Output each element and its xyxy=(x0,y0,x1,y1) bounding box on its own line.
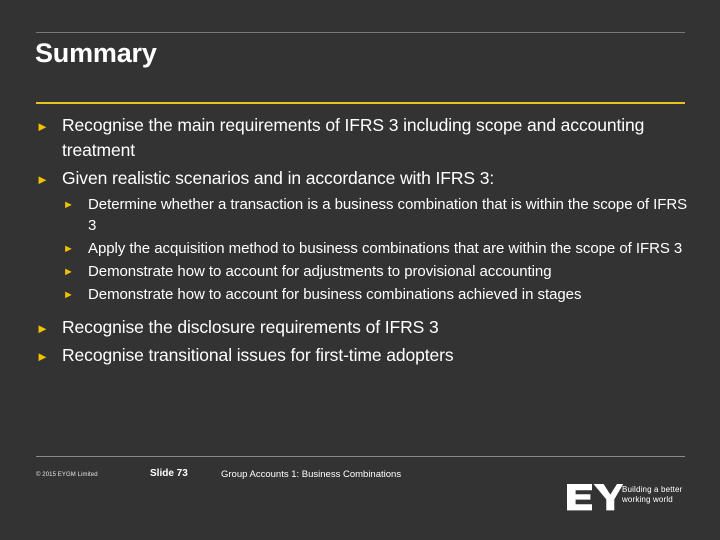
bullet-list: ► Recognise the main requirements of IFR… xyxy=(36,113,688,371)
sub-bullet-item: ► Determine whether a transaction is a b… xyxy=(63,194,688,236)
triangle-bullet-icon: ► xyxy=(63,238,88,255)
deck-title: Group Accounts 1: Business Combinations xyxy=(221,469,401,480)
bullet-item: ► Recognise the main requirements of IFR… xyxy=(36,113,688,163)
sub-bullet-item: ► Demonstrate how to account for busines… xyxy=(63,284,688,305)
ey-logo: Building a better working world xyxy=(566,481,696,515)
sub-bullet-text: Demonstrate how to account for business … xyxy=(88,284,688,305)
title-top-rule xyxy=(36,32,685,33)
sub-bullet-text: Determine whether a transaction is a bus… xyxy=(88,194,688,236)
bullet-item: ► Recognise the disclosure requirements … xyxy=(36,315,688,340)
footer-divider xyxy=(36,456,685,457)
triangle-bullet-icon: ► xyxy=(63,284,88,301)
ey-tagline: Building a better working world xyxy=(622,485,682,504)
slide: Summary ► Recognise the main requirement… xyxy=(0,0,720,540)
sub-bullet-list: ► Determine whether a transaction is a b… xyxy=(36,194,688,305)
bullet-text: Given realistic scenarios and in accorda… xyxy=(62,166,688,191)
page-title: Summary xyxy=(35,36,157,70)
slide-number: Slide 73 xyxy=(150,468,188,479)
bullet-item: ► Recognise transitional issues for firs… xyxy=(36,343,688,368)
ey-tagline-line-2: working world xyxy=(622,495,682,505)
sub-bullet-item: ► Apply the acquisition method to busine… xyxy=(63,238,688,259)
triangle-bullet-icon: ► xyxy=(36,315,62,335)
triangle-bullet-icon: ► xyxy=(36,113,62,133)
bullet-text: Recognise the disclosure requirements of… xyxy=(62,315,688,340)
bullet-text: Recognise the main requirements of IFRS … xyxy=(62,113,688,163)
ey-wordmark-icon xyxy=(566,481,624,511)
triangle-bullet-icon: ► xyxy=(63,261,88,278)
bullet-item: ► Given realistic scenarios and in accor… xyxy=(36,166,688,191)
title-accent-rule xyxy=(36,102,685,104)
triangle-bullet-icon: ► xyxy=(63,194,88,211)
triangle-bullet-icon: ► xyxy=(36,166,62,186)
ey-tagline-line-1: Building a better xyxy=(622,485,682,495)
bullet-text: Recognise transitional issues for first-… xyxy=(62,343,688,368)
sub-bullet-text: Apply the acquisition method to business… xyxy=(88,238,688,259)
copyright-notice: © 2015 EYGM Limited xyxy=(36,472,98,478)
triangle-bullet-icon: ► xyxy=(36,343,62,363)
sub-bullet-text: Demonstrate how to account for adjustmen… xyxy=(88,261,688,282)
sub-bullet-item: ► Demonstrate how to account for adjustm… xyxy=(63,261,688,282)
